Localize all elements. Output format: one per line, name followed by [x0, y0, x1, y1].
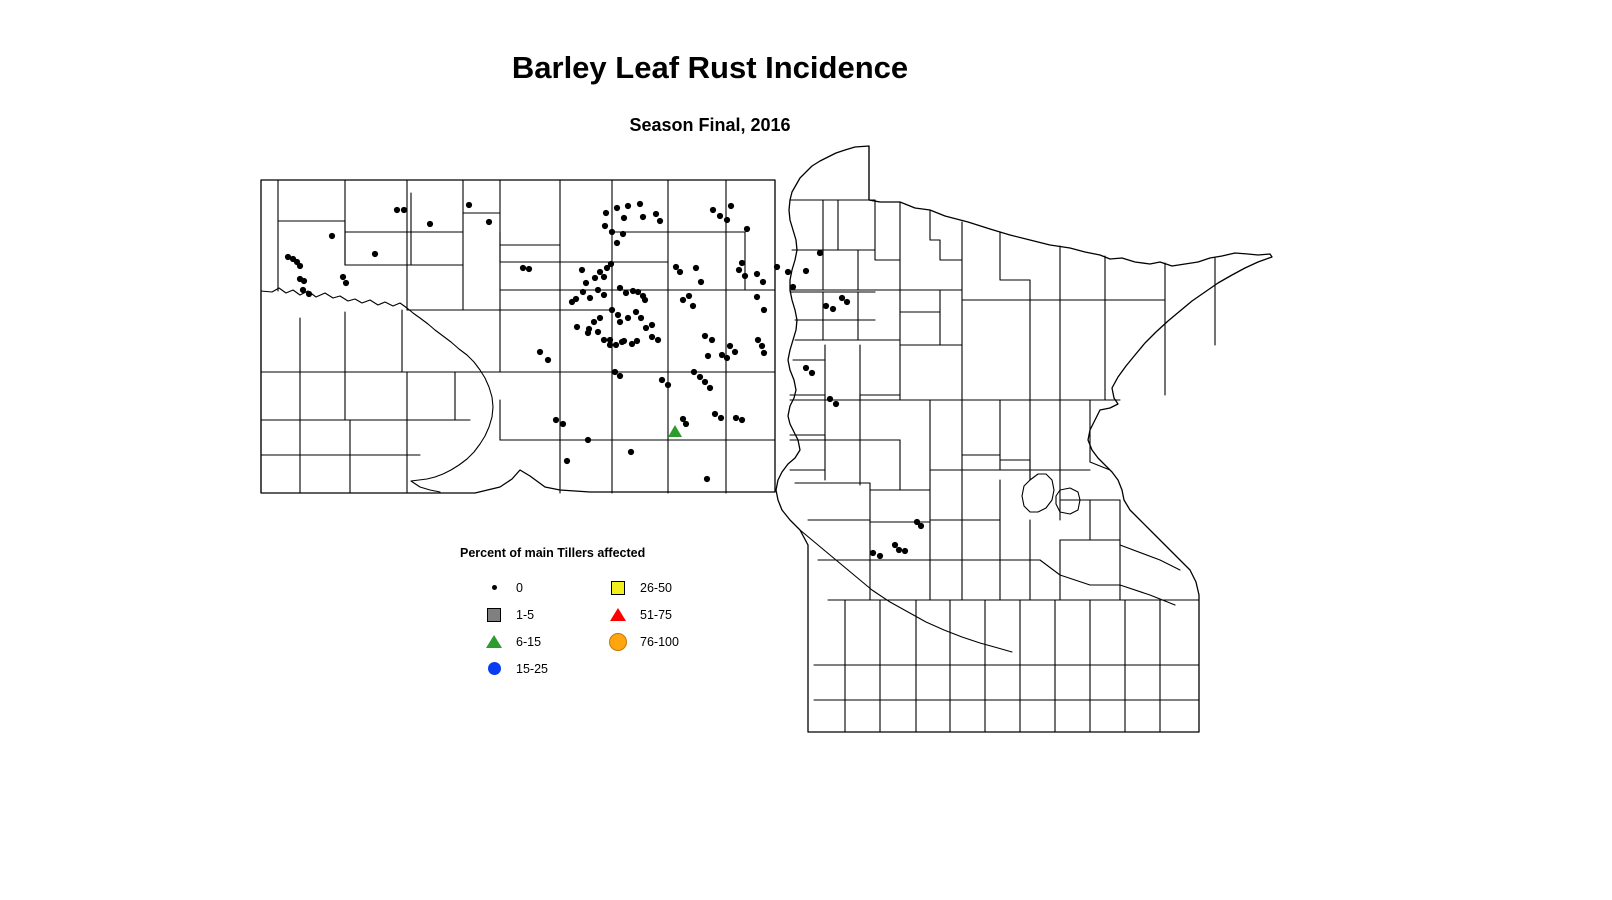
data-point-zero	[617, 285, 623, 291]
data-point-zero	[677, 269, 683, 275]
data-point-zero	[918, 523, 924, 529]
data-point-zero	[759, 343, 765, 349]
data-point-zero	[607, 342, 613, 348]
legend-columns: 0 1-5 6-15 15-25 26-50	[460, 574, 720, 684]
data-point-zero	[553, 417, 559, 423]
data-point-zero	[583, 280, 589, 286]
green-triangle-icon	[482, 635, 506, 648]
data-point-zero	[537, 349, 543, 355]
data-point-zero	[640, 214, 646, 220]
map-canvas	[0, 0, 1612, 900]
red-triangle-icon	[606, 608, 630, 621]
legend-item-15-25[interactable]: 15-25	[482, 655, 548, 682]
legend-title: Percent of main Tillers affected	[460, 546, 720, 560]
legend-item-6-15[interactable]: 6-15	[482, 628, 548, 655]
data-point-zero	[634, 338, 640, 344]
data-point-zero	[680, 297, 686, 303]
data-point-zero	[580, 289, 586, 295]
data-point-zero	[809, 370, 815, 376]
data-point-zero	[724, 355, 730, 361]
legend-item-label: 0	[516, 581, 523, 595]
data-point-zero	[625, 203, 631, 209]
data-point-zero	[761, 350, 767, 356]
legend-item-label: 26-50	[640, 581, 672, 595]
legend-item-51-75[interactable]: 51-75	[606, 601, 679, 628]
data-point-zero	[628, 449, 634, 455]
legend-item-76-100[interactable]: 76-100	[606, 628, 679, 655]
data-point-zero	[545, 357, 551, 363]
data-point-zero	[638, 315, 644, 321]
data-point-zero	[560, 421, 566, 427]
data-point-zero	[830, 306, 836, 312]
data-point-zero	[520, 265, 526, 271]
data-point-zero	[340, 274, 346, 280]
data-point-zero	[693, 265, 699, 271]
legend-item-26-50[interactable]: 26-50	[606, 574, 679, 601]
data-point-zero	[877, 553, 883, 559]
data-point-zero	[742, 273, 748, 279]
data-point-zero	[526, 266, 532, 272]
legend-item-label: 51-75	[640, 608, 672, 622]
data-point-zero	[665, 382, 671, 388]
legend-column-right: 26-50 51-75 76-100	[606, 574, 679, 655]
data-point-zero	[564, 458, 570, 464]
data-point-zero	[592, 275, 598, 281]
data-point-zero	[704, 476, 710, 482]
data-point-zero	[690, 303, 696, 309]
data-point-zero	[707, 385, 713, 391]
data-point-zero	[659, 377, 665, 383]
data-point-zero	[329, 233, 335, 239]
data-point-zero	[790, 284, 796, 290]
data-point-zero	[615, 312, 621, 318]
data-point-zero	[595, 287, 601, 293]
data-points-zero	[285, 201, 924, 559]
data-point-zero	[774, 264, 780, 270]
data-point-zero	[591, 319, 597, 325]
data-point-zero	[597, 315, 603, 321]
data-point-zero	[579, 267, 585, 273]
data-point-zero	[297, 263, 303, 269]
data-point-zero	[839, 295, 845, 301]
data-point-zero	[625, 315, 631, 321]
data-point-zero	[709, 337, 715, 343]
legend-item-label: 76-100	[640, 635, 679, 649]
data-point-zero	[601, 292, 607, 298]
data-point-zero	[833, 401, 839, 407]
data-point-zero	[817, 250, 823, 256]
zero-dot-icon	[482, 585, 506, 590]
data-point-zero	[827, 396, 833, 402]
data-point-zero	[712, 411, 718, 417]
data-point-zero	[718, 415, 724, 421]
data-point-zero	[612, 369, 618, 375]
data-point-zero	[614, 240, 620, 246]
north-dakota-counties	[261, 180, 775, 493]
data-point-zero	[586, 326, 592, 332]
data-point-zero	[754, 271, 760, 277]
data-point-zero	[902, 548, 908, 554]
data-point-zero	[754, 294, 760, 300]
data-point-zero	[604, 265, 610, 271]
legend-item-1-5[interactable]: 1-5	[482, 601, 548, 628]
data-point-zero	[597, 269, 603, 275]
legend-item-label: 15-25	[516, 662, 548, 676]
data-point-zero	[727, 343, 733, 349]
data-point-zero	[744, 226, 750, 232]
data-point-zero	[300, 287, 306, 293]
data-point-zero	[710, 207, 716, 213]
data-point-zero	[637, 201, 643, 207]
data-point-zero	[613, 342, 619, 348]
data-point-zero	[702, 379, 708, 385]
data-point-zero	[643, 325, 649, 331]
data-point-zero	[728, 203, 734, 209]
data-point-zero	[609, 229, 615, 235]
data-point-zero	[717, 213, 723, 219]
data-point-zero	[733, 415, 739, 421]
data-point-zero	[306, 291, 312, 297]
yellow-square-icon	[606, 581, 630, 595]
data-point-zero	[803, 268, 809, 274]
data-point-zero	[755, 337, 761, 343]
data-point-zero	[739, 417, 745, 423]
data-point-zero	[623, 290, 629, 296]
data-point-zero	[614, 205, 620, 211]
data-point-zero	[587, 295, 593, 301]
data-point-zero	[736, 267, 742, 273]
data-point-zero	[705, 353, 711, 359]
data-point-zero	[301, 278, 307, 284]
data-point-zero	[691, 369, 697, 375]
data-point-zero	[761, 307, 767, 313]
data-point-zero	[649, 334, 655, 340]
data-point-zero	[569, 299, 575, 305]
data-point-zero	[601, 337, 607, 343]
data-point-zero	[394, 207, 400, 213]
data-point-zero	[621, 338, 627, 344]
data-point-zero	[343, 280, 349, 286]
data-point-zero	[603, 210, 609, 216]
data-point-zero	[739, 260, 745, 266]
data-point-zero	[574, 324, 580, 330]
data-point-zero	[617, 373, 623, 379]
data-point-zero	[466, 202, 472, 208]
data-point-zero	[892, 542, 898, 548]
minnesota-counties	[776, 146, 1272, 732]
data-point-zero	[698, 279, 704, 285]
data-point-zero	[401, 207, 407, 213]
data-point-zero	[823, 303, 829, 309]
data-point-zero	[427, 221, 433, 227]
data-point-zero	[595, 329, 601, 335]
blue-circle-icon	[482, 662, 506, 675]
data-point-zero	[760, 279, 766, 285]
data-point-zero	[686, 293, 692, 299]
legend: Percent of main Tillers affected 0 1-5 6…	[460, 546, 720, 684]
data-point-zero	[673, 264, 679, 270]
data-points-six-fifteen	[668, 425, 682, 437]
data-point-zero	[697, 374, 703, 380]
data-point-zero	[649, 322, 655, 328]
data-point-zero	[609, 307, 615, 313]
data-point-zero	[896, 547, 902, 553]
data-point-zero	[683, 421, 689, 427]
data-point-zero	[870, 550, 876, 556]
data-point-zero	[585, 437, 591, 443]
data-point-zero	[601, 274, 607, 280]
data-point-zero	[657, 218, 663, 224]
data-point-zero	[617, 319, 623, 325]
legend-column-left: 0 1-5 6-15 15-25	[482, 574, 548, 682]
data-point-zero	[844, 299, 850, 305]
data-point-zero	[653, 211, 659, 217]
data-point-zero	[621, 215, 627, 221]
data-point-zero	[785, 269, 791, 275]
data-point-zero	[803, 365, 809, 371]
gray-square-icon	[482, 608, 506, 622]
data-point-zero	[732, 349, 738, 355]
data-point-6-15	[668, 425, 682, 437]
data-point-zero	[633, 309, 639, 315]
data-point-zero	[702, 333, 708, 339]
map-page: Barley Leaf Rust Incidence Season Final,…	[0, 0, 1612, 900]
data-point-zero	[486, 219, 492, 225]
legend-item-label: 6-15	[516, 635, 541, 649]
data-point-zero	[372, 251, 378, 257]
data-point-zero	[620, 231, 626, 237]
data-point-zero	[724, 217, 730, 223]
data-point-zero	[602, 223, 608, 229]
orange-circle-icon	[606, 633, 630, 651]
legend-item-0[interactable]: 0	[482, 574, 548, 601]
data-point-zero	[655, 337, 661, 343]
legend-item-label: 1-5	[516, 608, 534, 622]
data-point-zero	[642, 297, 648, 303]
data-point-zero	[635, 289, 641, 295]
